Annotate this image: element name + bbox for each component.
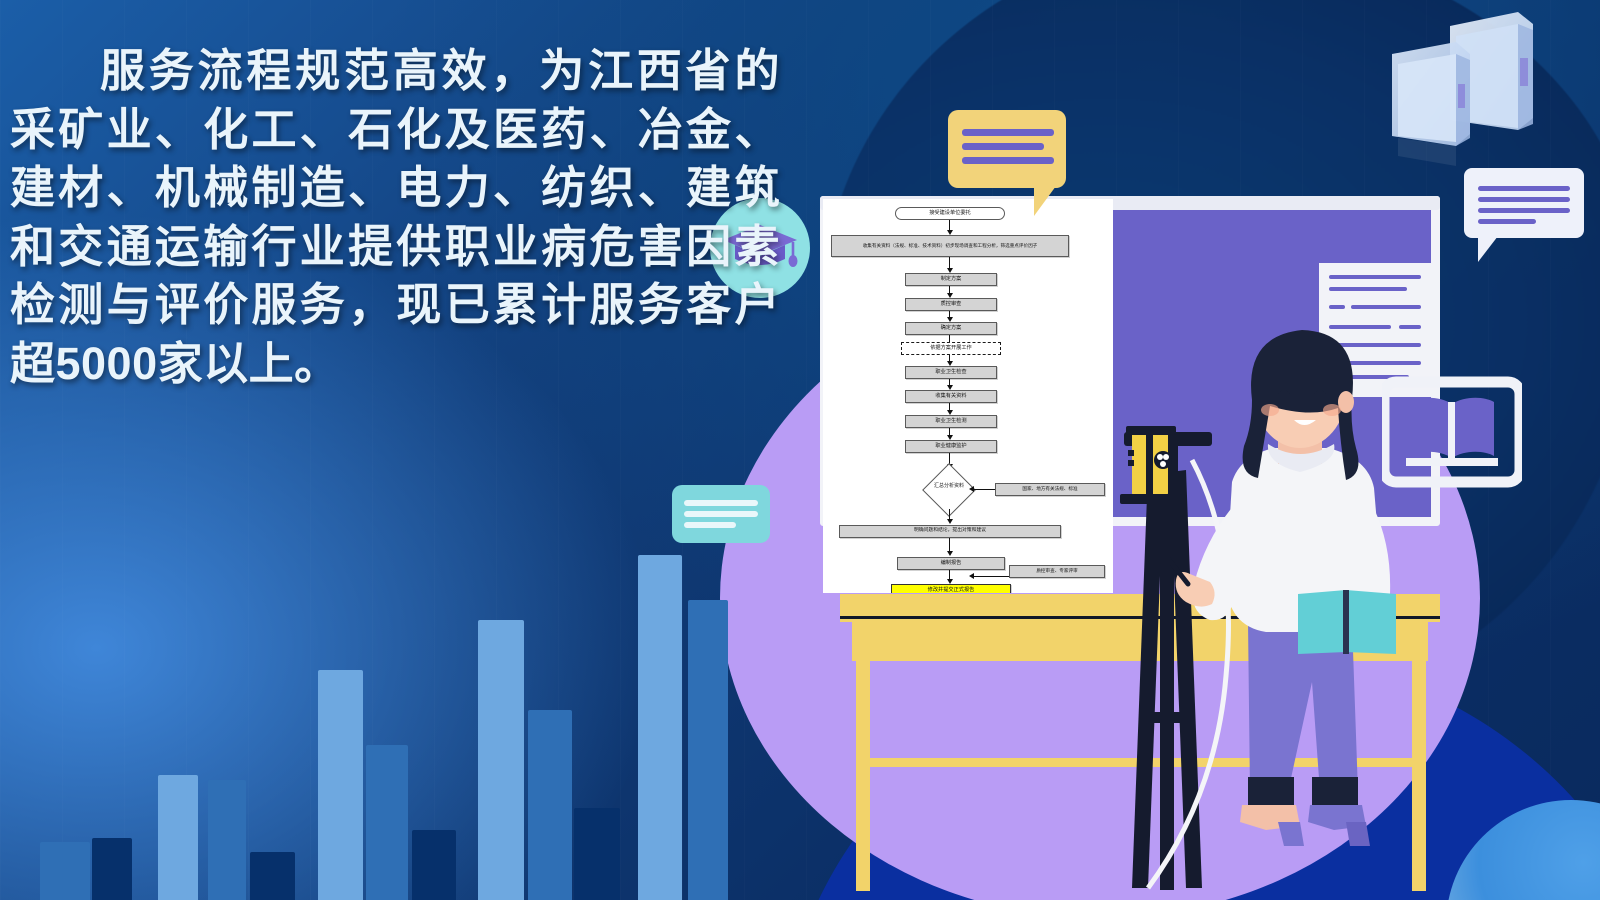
- bar-item: [208, 780, 246, 900]
- bar-item: [318, 670, 363, 900]
- bar-item: [528, 710, 572, 900]
- flow-node-n8: 收集有关资料: [905, 390, 997, 403]
- flow-node-n5: 确定方案: [905, 322, 997, 335]
- bar-item: [158, 775, 198, 900]
- bar-item: [574, 808, 620, 900]
- flow-node-n7: 职业卫生检查: [905, 366, 997, 379]
- bubble-tail: [1034, 186, 1056, 216]
- flow-node-n1: 接受建设单位委托: [895, 207, 1005, 220]
- bar-item: [40, 842, 90, 900]
- flow-node-n13: 明确问题和结论，提出对策和建议: [839, 525, 1061, 538]
- classroom-illustration: 接受建设单位委托 收集有关资料（法规、标准、技术资料）初步现场调查和工程分析，筛…: [820, 196, 1440, 666]
- bar-item: [412, 830, 456, 900]
- flow-node-n11: 汇总分析资料: [927, 483, 971, 490]
- books-stack-icon: [1378, 6, 1568, 186]
- bubble-tail: [1478, 236, 1498, 262]
- flowchart-panel: 接受建设单位委托 收集有关资料（法规、标准、技术资料）初步现场调查和工程分析，筛…: [823, 199, 1113, 593]
- speech-bubble-white: [1464, 168, 1584, 238]
- bar-item: [638, 555, 682, 900]
- poster-canvas: 服务流程规范高效，为江西省的采矿业、化工、石化及医药、冶金、建材、机械制造、电力…: [0, 0, 1600, 900]
- bar-item: [478, 620, 524, 900]
- bar-item: [92, 838, 132, 900]
- open-book-icon: [1382, 372, 1522, 490]
- speech-bubble-yellow: [948, 110, 1066, 188]
- flow-node-n6: 依据方案开展工作: [901, 342, 1001, 355]
- flow-node-n2: 收集有关资料（法规、标准、技术资料）初步现场调查和工程分析，筛选重点评价因子: [831, 235, 1069, 257]
- speech-bubble-teal: [672, 485, 770, 543]
- sampling-instrument-icon: [1118, 426, 1184, 512]
- bar-item: [250, 852, 295, 900]
- page-title: 服务流程规范高效，为江西省的采矿业、化工、石化及医药、冶金、建材、机械制造、电力…: [10, 42, 780, 393]
- flow-node-n16: 修改并提交正式报告: [891, 584, 1011, 593]
- flow-node-n4: 质控审查: [905, 298, 997, 311]
- flow-node-n10: 职业健康监护: [905, 440, 997, 453]
- flow-node-n3: 制定方案: [905, 273, 997, 286]
- decorative-bar-chart: [0, 460, 780, 900]
- bar-item: [688, 600, 728, 900]
- desk-leg-left: [856, 661, 870, 891]
- bar-item: [366, 745, 408, 900]
- flow-node-n14: 编制报告: [897, 557, 1005, 570]
- flow-node-n9: 职业卫生检测: [905, 415, 997, 428]
